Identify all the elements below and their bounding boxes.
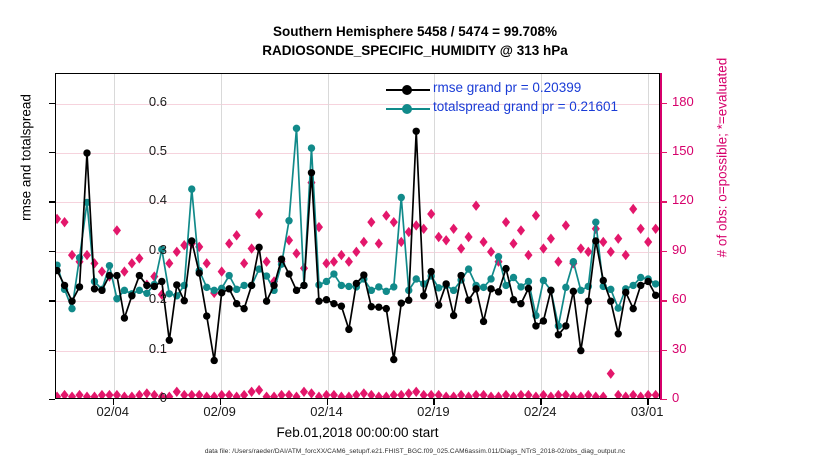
obs-possible-marker [472,390,480,398]
series-point-rmse [121,314,128,321]
obs-evaluated-marker [435,232,443,242]
obs-evaluated-marker [292,248,300,258]
series-point-rmse [68,298,75,305]
obs-evaluated-marker [614,233,622,243]
obs-possible-marker [622,392,630,398]
series-point-totalspread [240,282,247,289]
series-point-rmse [472,285,479,292]
obs-evaluated-marker [427,209,435,219]
plot-inner [56,74,659,398]
obs-evaluated-marker [465,232,473,242]
obs-possible-marker [427,390,435,398]
obs-possible-marker [502,390,510,398]
legend: rmse grand pr = 0.20399totalspread grand… [386,80,616,118]
obs-possible-marker [360,388,368,398]
obs-evaluated-marker [113,225,121,235]
obs-evaluated-marker [330,256,338,266]
obs-possible-marker [562,390,570,398]
obs-evaluated-marker [652,224,659,234]
series-point-rmse [375,303,382,310]
series-point-rmse [517,300,524,307]
legend-label-rmse: rmse grand pr = 0.20399 [433,80,581,95]
left-axis-tick-mark [49,300,55,301]
series-point-rmse [278,256,285,263]
series-point-rmse [555,331,562,338]
obs-evaluated-marker [120,266,128,276]
left-axis-tick-label: 0.5 [149,143,167,158]
obs-evaluated-marker [607,247,615,257]
obs-evaluated-marker [60,217,68,227]
obs-possible-marker [569,392,577,398]
series-point-rmse [263,298,270,305]
obs-possible-marker [188,390,196,398]
series-point-rmse [128,292,135,299]
series-point-rmse [91,285,98,292]
right-axis-tick-label: 150 [672,143,694,158]
legend-item-rmse[interactable]: rmse grand pr = 0.20399 [386,80,616,99]
obs-possible-marker [75,390,83,398]
obs-possible-marker [345,392,353,398]
obs-possible-marker [450,392,458,398]
obs-evaluated-marker [644,237,652,247]
obs-evaluated-marker [263,256,271,266]
series-point-rmse [495,288,502,295]
right-axis-tick-mark [661,251,667,252]
left-axis-tick-mark [49,152,55,153]
right-axis-tick-mark [661,103,667,104]
obs-possible-marker [517,390,525,398]
obs-possible-marker [143,388,151,398]
series-point-rmse [225,285,232,292]
series-point-totalspread [293,125,300,132]
series-point-rmse [435,301,442,308]
obs-possible-marker [98,390,106,398]
bottom-axis-tick-label: 02/09 [203,404,236,419]
series-point-rmse [143,282,150,289]
series-point-totalspread [106,262,113,269]
series-point-rmse [442,280,449,287]
bottom-axis-tick-label: 03/01 [631,404,664,419]
series-point-totalspread [323,278,330,285]
obs-evaluated-marker [56,214,61,224]
bottom-axis-tick-label: 02/14 [310,404,343,419]
obs-possible-marker [607,368,615,378]
obs-possible-marker [210,392,218,398]
obs-evaluated-marker [502,217,510,227]
obs-possible-marker [68,392,76,398]
series-point-totalspread [517,283,524,290]
series-point-rmse [547,287,554,294]
obs-evaluated-marker [622,250,630,260]
series-point-rmse [285,270,292,277]
obs-evaluated-marker [375,238,383,248]
series-point-totalspread [413,275,420,282]
obs-possible-marker [637,392,645,398]
obs-evaluated-marker [480,237,488,247]
series-point-rmse [233,300,240,307]
obs-evaluated-marker [517,225,525,235]
left-axis-tick-label: 0.1 [149,341,167,356]
series-point-rmse [113,272,120,279]
left-axis-tick-label: 0.2 [149,291,167,306]
obs-evaluated-marker [128,258,136,268]
obs-possible-marker [83,392,91,398]
obs-evaluated-marker [472,201,480,211]
series-point-totalspread [510,274,517,281]
series-point-rmse [383,305,390,312]
obs-evaluated-marker [532,210,540,220]
obs-possible-marker [248,387,256,397]
series-point-rmse [405,297,412,304]
series-point-totalspread [398,194,405,201]
obs-possible-marker [225,390,233,398]
obs-possible-marker [180,390,188,398]
series-point-rmse [570,288,577,295]
obs-evaluated-marker [135,253,143,263]
series-point-rmse [502,265,509,272]
obs-evaluated-marker [554,256,562,266]
title-line-1: Southern Hemisphere 5458 / 5474 = 99.708… [0,22,830,41]
obs-possible-marker [405,388,413,398]
legend-marker-totalspread [402,104,412,114]
series-point-totalspread [592,218,599,225]
obs-possible-marker [315,392,323,398]
legend-marker-rmse [402,85,412,95]
series-point-rmse [427,268,434,275]
obs-possible-marker [375,392,383,398]
obs-evaluated-marker [457,243,465,253]
obs-possible-marker [629,390,637,398]
series-point-rmse [293,287,300,294]
obs-possible-marker [614,390,622,398]
legend-label-totalspread: totalspread grand pr = 0.21601 [433,99,618,114]
series-point-totalspread [577,287,584,294]
series-point-totalspread [637,274,644,281]
obs-possible-marker [90,392,98,398]
right-axis-tick-label: 90 [672,242,686,257]
series-point-totalspread [113,295,120,302]
obs-evaluated-marker [165,258,173,268]
obs-evaluated-marker [487,247,495,257]
left-axis-tick-mark [49,251,55,252]
obs-possible-marker [60,390,68,398]
obs-possible-marker [524,390,532,398]
obs-possible-marker [487,392,495,398]
obs-evaluated-marker [577,243,585,253]
series-point-rmse [270,282,277,289]
obs-evaluated-marker [225,238,233,248]
series-point-totalspread [285,217,292,224]
obs-possible-marker [547,392,555,398]
series-point-rmse [562,322,569,329]
series-point-totalspread [465,265,472,272]
bottom-axis-tick-label: 02/24 [524,404,557,419]
obs-evaluated-marker [509,238,517,248]
right-axis-tick-mark [661,300,667,301]
obs-possible-marker [554,390,562,398]
series-point-rmse [248,282,255,289]
series-point-rmse [106,272,113,279]
series-point-rmse [368,303,375,310]
series-point-totalspread [562,284,569,291]
obs-possible-marker [330,390,338,398]
series-point-rmse [255,244,262,251]
data-series-layer [56,74,659,398]
series-point-rmse [83,149,90,156]
obs-possible-marker [128,392,136,398]
series-point-rmse [203,312,210,319]
series-point-rmse [240,305,247,312]
obs-possible-marker [382,392,390,398]
series-point-totalspread [338,282,345,289]
series-point-rmse [308,169,315,176]
obs-possible-marker [352,390,360,398]
obs-possible-marker [195,390,203,398]
series-point-rmse [465,297,472,304]
obs-possible-marker [494,392,502,398]
obs-possible-marker [599,392,607,398]
obs-evaluated-marker [233,230,241,240]
plot-area [55,73,660,399]
series-point-rmse [188,237,195,244]
obs-possible-marker [255,385,263,395]
title-line-2: RADIOSONDE_SPECIFIC_HUMIDITY @ 313 hPa [0,41,830,60]
series-point-rmse [540,317,547,324]
right-axis-tick-mark [661,152,667,153]
series-point-totalspread [615,304,622,311]
series-point-rmse [173,281,180,288]
obs-evaluated-marker [240,258,248,268]
series-point-rmse [652,292,659,299]
series-point-rmse [577,347,584,354]
obs-evaluated-marker [203,258,211,268]
obs-evaluated-marker [637,224,645,234]
obs-evaluated-marker [173,247,181,257]
obs-possible-marker [420,390,428,398]
left-axis-label: rmse and totalspread [19,28,34,288]
obs-evaluated-marker [390,217,398,227]
obs-possible-marker [644,390,652,398]
obs-evaluated-marker [524,250,532,260]
series-point-rmse [151,283,158,290]
series-point-rmse [532,322,539,329]
page-title: Southern Hemisphere 5458 / 5474 = 99.708… [0,22,830,60]
series-point-totalspread [68,305,75,312]
series-point-rmse [330,300,337,307]
obs-evaluated-marker [360,237,368,247]
obs-possible-marker [113,390,121,398]
series-point-totalspread [540,277,547,284]
left-axis-tick-mark [49,201,55,202]
series-point-rmse [585,298,592,305]
series-point-totalspread [450,287,457,294]
series-point-rmse [360,271,367,278]
series-point-totalspread [480,284,487,291]
series-point-totalspread [383,288,390,295]
obs-evaluated-marker [255,209,263,219]
obs-possible-marker [337,392,345,398]
left-axis-tick-label: 0 [160,390,167,405]
series-point-totalspread [375,283,382,290]
left-axis-tick-mark [49,350,55,351]
left-axis-tick-label: 0.3 [149,242,167,257]
series-point-rmse [181,297,188,304]
series-point-totalspread [233,286,240,293]
obs-possible-marker [263,392,271,398]
legend-item-totalspread[interactable]: totalspread grand pr = 0.21601 [386,99,616,118]
series-point-totalspread [390,283,397,290]
bottom-axis-tick-label: 02/19 [417,404,450,419]
right-axis-tick-label: 120 [672,192,694,207]
obs-evaluated-marker [248,243,256,253]
right-axis-tick-mark [661,399,667,400]
series-point-rmse [420,292,427,299]
obs-possible-marker [233,392,241,398]
series-point-rmse [615,330,622,337]
series-point-rmse [607,298,614,305]
series-point-rmse [510,296,517,303]
series-point-totalspread [308,144,315,151]
obs-possible-marker [307,388,315,398]
series-point-totalspread [345,283,352,290]
series-point-totalspread [330,270,337,277]
series-point-rmse [338,302,345,309]
obs-possible-marker [435,390,443,398]
left-axis-tick-mark [49,399,55,400]
obs-evaluated-marker [98,266,106,276]
obs-possible-marker [465,392,473,398]
right-axis-tick-mark [661,201,667,202]
chart-page: Southern Hemisphere 5458 / 5474 = 99.708… [0,0,830,470]
obs-possible-marker [480,390,488,398]
series-point-rmse [622,289,629,296]
obs-possible-marker [412,387,420,397]
obs-possible-marker [367,390,375,398]
obs-possible-marker [135,390,143,398]
right-axis-tick-label: 0 [672,390,679,405]
series-point-totalspread [203,284,210,291]
obs-evaluated-marker [382,210,390,220]
obs-possible-marker [442,392,450,398]
obs-possible-marker [390,390,398,398]
obs-possible-marker [56,392,61,398]
series-point-rmse [353,280,360,287]
left-axis-tick-mark [49,103,55,104]
obs-possible-marker [292,392,300,398]
bottom-axis-tick-label: 02/04 [96,404,129,419]
obs-possible-marker [285,390,293,398]
obs-possible-marker [120,392,128,398]
series-point-rmse [323,296,330,303]
series-point-rmse [390,356,397,363]
series-point-rmse [398,299,405,306]
obs-evaluated-marker [539,243,547,253]
series-point-rmse [450,312,457,319]
obs-evaluated-marker [547,233,555,243]
series-point-rmse [525,285,532,292]
obs-evaluated-marker [442,235,450,245]
right-axis-tick-label: 30 [672,341,686,356]
series-point-rmse [196,269,203,276]
obs-possible-marker [532,392,540,398]
series-point-rmse [413,128,420,135]
obs-possible-marker [240,390,248,398]
bottom-axis-label: Feb.01,2018 00:00:00 start [55,425,660,440]
series-point-totalspread [570,258,577,265]
obs-evaluated-marker [68,250,76,260]
series-point-totalspread [525,278,532,285]
series-point-rmse [345,326,352,333]
series-point-rmse [600,277,607,284]
left-axis-tick-label: 0.6 [149,94,167,109]
series-point-rmse [644,278,651,285]
obs-possible-marker [652,390,659,398]
left-axis-tick-label: 0.4 [149,192,167,207]
obs-evaluated-marker [218,266,226,276]
obs-possible-marker [270,392,278,398]
obs-possible-marker [218,390,226,398]
obs-possible-marker [457,390,465,398]
obs-possible-marker [584,390,592,398]
obs-possible-marker [277,390,285,398]
obs-possible-marker [300,387,308,397]
obs-possible-marker [105,390,113,398]
obs-possible-marker [150,390,158,398]
series-point-rmse [630,305,637,312]
series-point-totalspread [630,282,637,289]
obs-possible-marker [322,390,330,398]
series-point-totalspread [495,253,502,260]
obs-possible-marker [592,392,600,398]
footer-datafile: data file: /Users/raeder/DAI/ATM_forcXX/… [0,448,830,455]
series-point-totalspread [211,287,218,294]
series-point-rmse [592,237,599,244]
series-point-rmse [211,357,218,364]
series-point-rmse [158,278,165,285]
obs-evaluated-marker [562,220,570,230]
obs-evaluated-marker [599,237,607,247]
obs-possible-marker [577,392,585,398]
obs-evaluated-marker [412,220,420,230]
obs-evaluated-marker [450,224,458,234]
obs-evaluated-marker [83,250,91,260]
obs-evaluated-marker [345,256,353,266]
series-point-rmse [76,283,83,290]
series-point-rmse [457,272,464,279]
series-point-totalspread [487,275,494,282]
obs-possible-marker [173,387,181,397]
series-point-rmse [315,298,322,305]
obs-possible-marker [203,392,211,398]
series-point-totalspread [136,287,143,294]
series-point-totalspread [225,272,232,279]
series-point-rmse [136,272,143,279]
obs-evaluated-marker [352,247,360,257]
right-axis-tick-mark [661,350,667,351]
obs-evaluated-marker [322,258,330,268]
obs-evaluated-marker [337,250,345,260]
series-point-totalspread [188,185,195,192]
series-point-rmse [61,282,68,289]
series-point-rmse [487,285,494,292]
series-point-totalspread [121,287,128,294]
obs-evaluated-marker [629,204,637,214]
series-point-rmse [300,282,307,289]
series-point-rmse [218,289,225,296]
obs-possible-marker [397,390,405,398]
series-point-rmse [637,282,644,289]
obs-possible-marker [539,390,547,398]
